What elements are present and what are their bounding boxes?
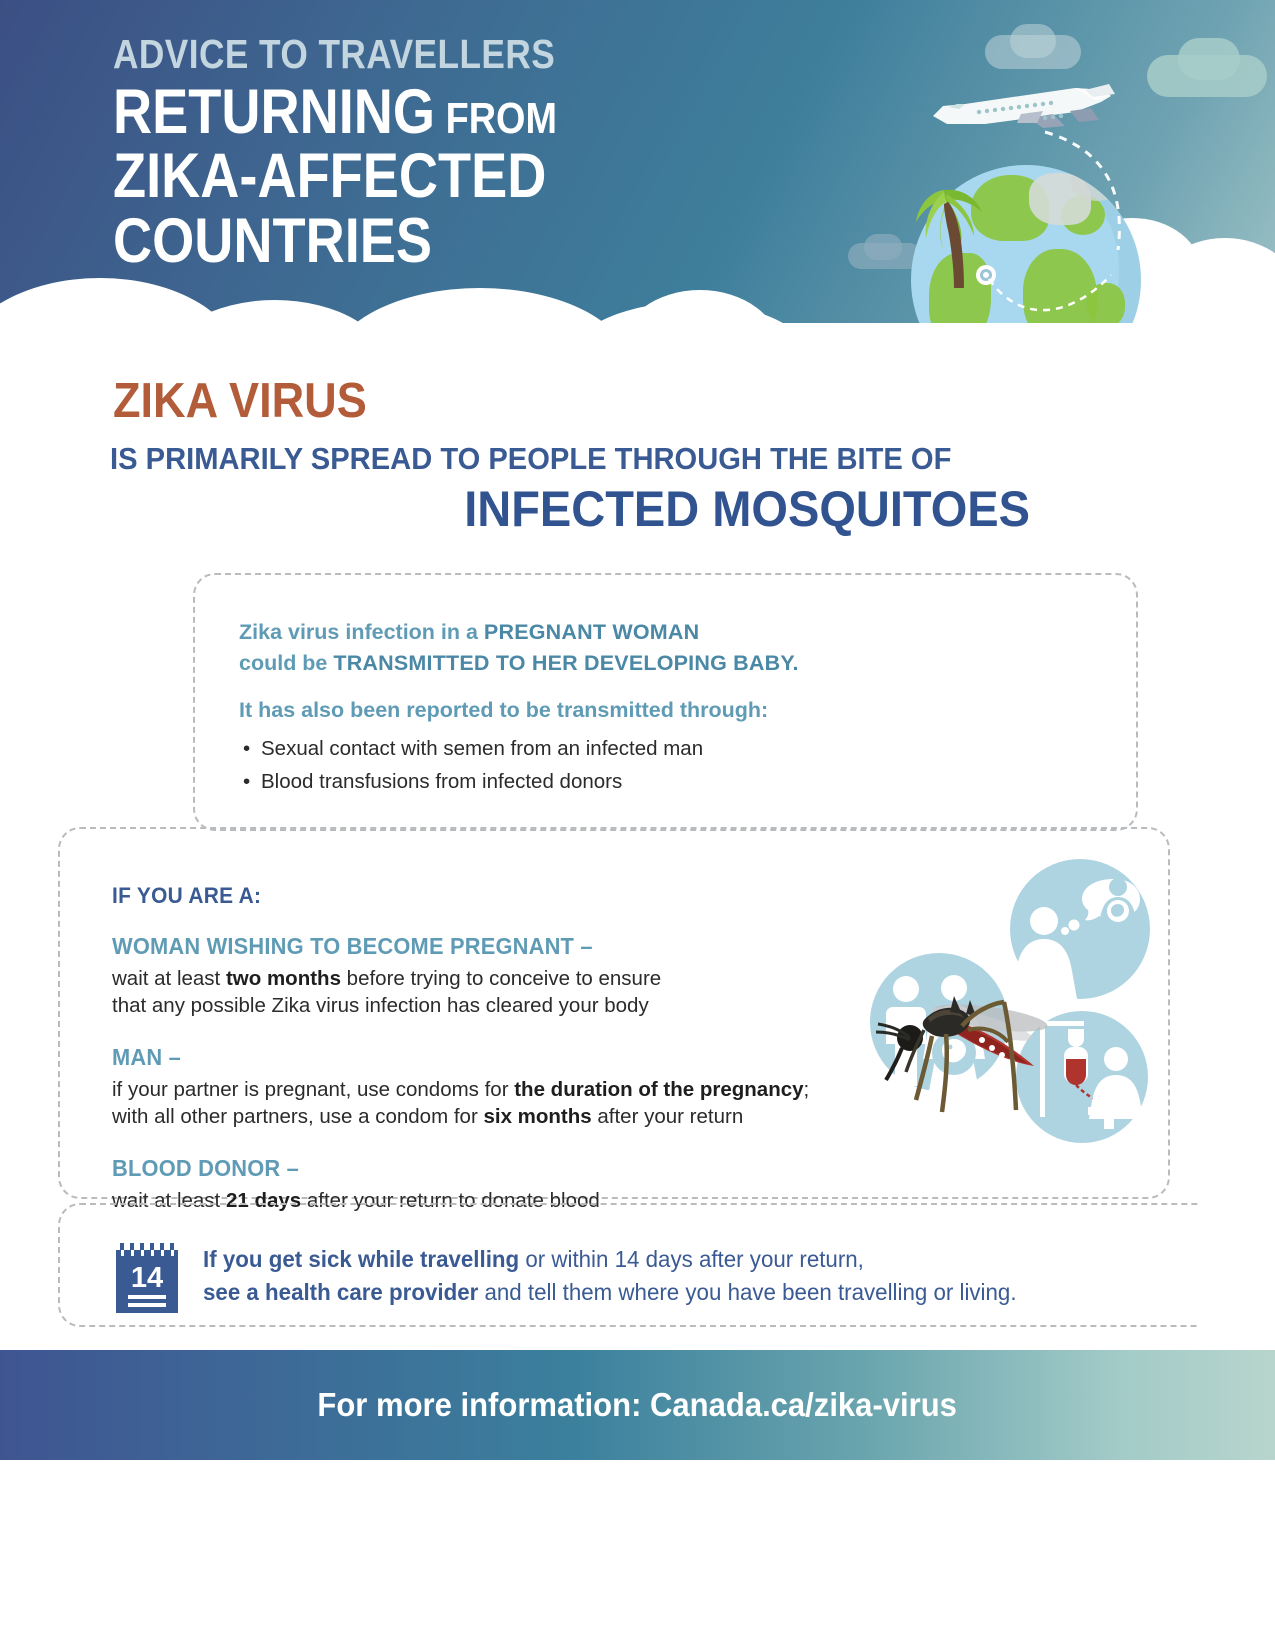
man-line1c: ;: [804, 1078, 810, 1101]
developing-baby-emphasis: TRANSMITTED TO HER DEVELOPING BABY.: [333, 651, 798, 675]
sick-notice-bold-2: see a health care provider: [203, 1279, 478, 1305]
header-line1-suffix: FROM: [435, 94, 557, 143]
cloud-icon: [864, 234, 902, 260]
zika-virus-title: ZIKA VIRUS: [113, 373, 367, 429]
pregnant-lead: Zika virus infection in a: [239, 620, 484, 644]
also-reported-label: It has also been reported to be transmit…: [239, 698, 859, 723]
calendar-14-icon: 14: [116, 1241, 178, 1313]
header-title-group: ADVICE TO TRAVELLERS RETURNING FROM ZIKA…: [113, 34, 629, 272]
sick-notice-rest-2: and tell them where you have been travel…: [478, 1279, 1016, 1305]
woman-line1c: before trying to conceive to ensure: [341, 967, 661, 990]
palm-tree-icon: [902, 178, 1012, 298]
header-line-2: ZIKA-AFFECTED: [113, 145, 557, 207]
main-content: ZIKA VIRUS IS PRIMARILY SPREAD TO PEOPLE…: [0, 345, 1275, 1350]
header-eyebrow: ADVICE TO TRAVELLERS: [113, 34, 557, 76]
more-information-link[interactable]: For more information: Canada.ca/zika-vir…: [318, 1386, 958, 1424]
cloud-icon: [1010, 24, 1056, 58]
man-line2c: after your return: [592, 1105, 744, 1128]
man-emphasis-duration: the duration of the pregnancy: [514, 1078, 803, 1101]
advice-body-man: if your partner is pregnant, use condoms…: [112, 1076, 812, 1131]
advice-title-man: MAN –: [112, 1044, 777, 1071]
man-line2a: with all other partners, use a condom fo…: [112, 1105, 483, 1128]
list-item: Sexual contact with semen from an infect…: [239, 732, 859, 765]
header-banner: ADVICE TO TRAVELLERS RETURNING FROM ZIKA…: [0, 0, 1275, 345]
cloud-icon: [1178, 38, 1240, 80]
infographic-page: ADVICE TO TRAVELLERS RETURNING FROM ZIKA…: [0, 0, 1275, 1650]
woman-line2: that any possible Zika virus infection h…: [112, 994, 649, 1017]
flight-path-dashed: [1040, 130, 1170, 255]
man-line1a: if your partner is pregnant, use condoms…: [112, 1078, 514, 1101]
advice-body-woman: wait at least two months before trying t…: [112, 965, 812, 1020]
infected-mosquitoes-title: INFECTED MOSQUITOES: [165, 480, 1030, 538]
sick-notice-bold-1: If you get sick while travelling: [203, 1246, 519, 1272]
if-you-are-a-heading: IF YOU ARE A:: [112, 883, 777, 909]
man-emphasis-six-months: six months: [483, 1105, 591, 1128]
woman-line1a: wait at least: [112, 967, 226, 990]
advice-text-block: IF YOU ARE A: WOMAN WISHING TO BECOME PR…: [112, 883, 812, 1214]
advice-title-blood-donor: BLOOD DONOR –: [112, 1155, 777, 1182]
pregnant-woman-statement: Zika virus infection in a PREGNANT WOMAN…: [239, 617, 859, 678]
sick-notice-text: If you get sick while travelling or with…: [203, 1243, 1066, 1308]
header-bottom-edge: [0, 323, 1275, 345]
pregnant-mid: could be: [239, 651, 333, 675]
sick-notice-rest-1: or within 14 days after your return,: [519, 1246, 864, 1272]
logo-bar: 🍁 Public Health Agency of Canada Agence …: [0, 1460, 1275, 1650]
list-item: Blood transfusions from infected donors: [239, 765, 859, 798]
header-line-1: RETURNING FROM: [113, 81, 557, 143]
mosquito-icon: [858, 960, 1058, 1120]
woman-emphasis-two-months: two months: [226, 967, 341, 990]
transmission-bullet-list: Sexual contact with semen from an infect…: [239, 732, 859, 798]
spread-subtitle: IS PRIMARILY SPREAD TO PEOPLE THROUGH TH…: [110, 441, 975, 477]
svg-text:14: 14: [131, 1262, 163, 1294]
more-information-banner: For more information: Canada.ca/zika-vir…: [0, 1350, 1275, 1460]
pregnant-woman-emphasis: PREGNANT WOMAN: [484, 620, 699, 644]
header-line-3: COUNTRIES: [113, 210, 557, 272]
transmission-text-block: Zika virus infection in a PREGNANT WOMAN…: [239, 617, 859, 798]
header-line1-main: RETURNING: [113, 77, 435, 147]
advice-title-woman: WOMAN WISHING TO BECOME PREGNANT –: [112, 933, 777, 960]
